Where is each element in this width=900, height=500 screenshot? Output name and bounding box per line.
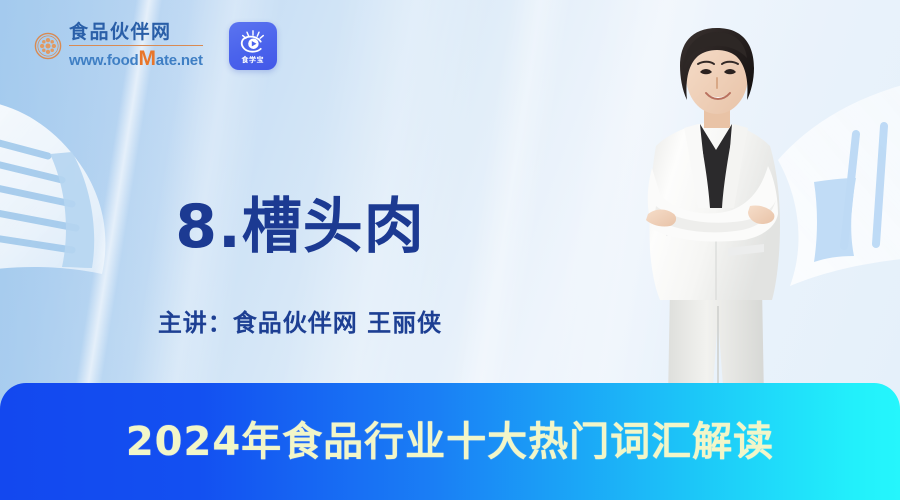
brand-header: 食品伙伴网 www.foodMate.net 食学宝 bbox=[34, 22, 277, 70]
shixuebao-app-icon[interactable]: 食学宝 bbox=[229, 22, 277, 70]
page-title: 8.槽头肉 bbox=[0, 178, 600, 265]
app-icon-label: 食学宝 bbox=[242, 55, 265, 65]
brand-url-suffix: ate.net bbox=[156, 52, 203, 69]
logo-divider bbox=[69, 45, 203, 46]
brand-url: www.foodMate.net bbox=[69, 48, 203, 69]
foodmate-logo[interactable]: 食品伙伴网 www.foodMate.net bbox=[34, 23, 203, 69]
brand-url-prefix: www.food bbox=[69, 52, 139, 69]
presentation-slide: 食品伙伴网 www.foodMate.net 食学宝 bbox=[0, 0, 900, 500]
eye-play-icon bbox=[238, 30, 268, 54]
speaker-line: 主讲：食品伙伴网 王丽侠 bbox=[0, 303, 600, 338]
bottom-banner: 2024年食品行业十大热门词汇解读 bbox=[0, 383, 900, 500]
brand-name-cn: 食品伙伴网 bbox=[69, 23, 203, 42]
brand-url-accent: M bbox=[139, 47, 156, 70]
speaker-portrait bbox=[612, 18, 820, 400]
banner-title: 2024年食品行业十大热门词汇解读 bbox=[0, 409, 900, 467]
flower-seal-icon bbox=[34, 32, 62, 60]
